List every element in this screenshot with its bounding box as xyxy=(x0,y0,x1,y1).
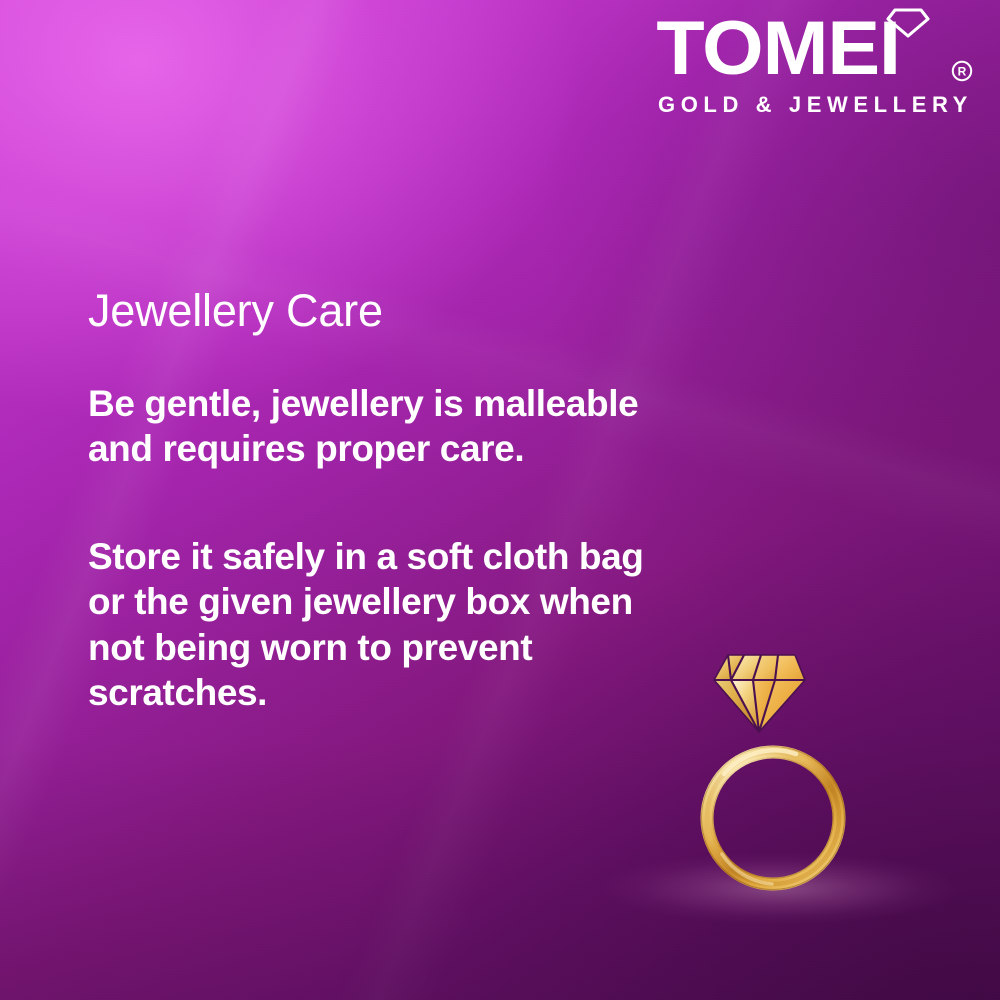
gem-facets xyxy=(714,655,805,732)
brand-logo: TOMEI R GOLD & JEWELLERY xyxy=(648,10,978,118)
diamond-outline-icon xyxy=(886,8,930,38)
page-title: Jewellery Care xyxy=(88,288,668,335)
logo-wordmark-row: TOMEI R xyxy=(648,10,978,88)
logo-wordmark: TOMEI xyxy=(648,10,991,88)
svg-text:R: R xyxy=(958,65,967,79)
care-paragraph-1: Be gentle, jewellery is malleable and re… xyxy=(88,381,668,472)
diamond-ring-illustration xyxy=(700,640,860,910)
jewellery-care-poster: TOMEI R GOLD & JEWELLERY Jewellery Care … xyxy=(0,0,1000,1000)
copy-block: Jewellery Care Be gentle, jewellery is m… xyxy=(88,288,668,716)
logo-tagline: GOLD & JEWELLERY xyxy=(648,92,978,118)
care-paragraph-2: Store it safely in a soft cloth bag or t… xyxy=(88,534,668,716)
ring-band xyxy=(702,747,845,890)
registered-trademark-icon: R xyxy=(951,60,973,82)
